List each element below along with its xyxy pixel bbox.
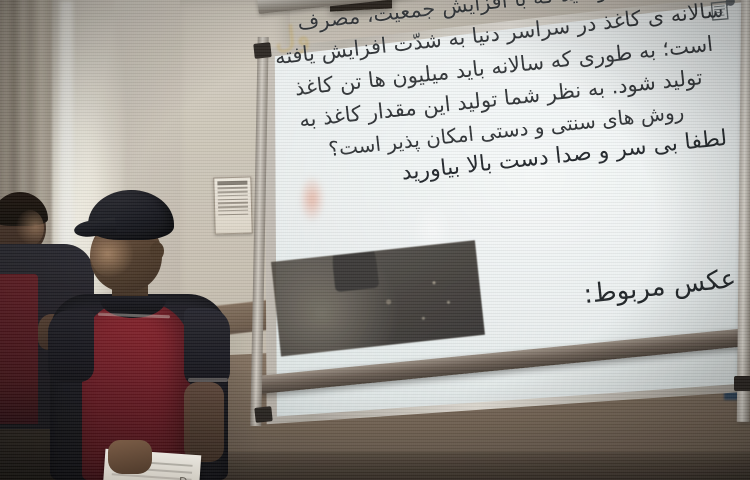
sleeve-right bbox=[184, 308, 230, 386]
whiteboard-corner-cap bbox=[255, 406, 273, 423]
whiteboard-corner-cap bbox=[734, 376, 750, 391]
classroom-photo: ول ر درسِ قبل آموختید که با افزایش جمعیت… bbox=[0, 0, 750, 480]
slide-logo-icon bbox=[710, 0, 738, 22]
ear bbox=[150, 242, 164, 260]
sleeve-left bbox=[48, 310, 94, 382]
paper-mark: D bbox=[178, 475, 187, 480]
student-foreground: D bbox=[38, 190, 238, 480]
hand bbox=[108, 440, 152, 474]
arm bbox=[184, 382, 224, 462]
whiteboard-corner-cap bbox=[253, 42, 271, 59]
shirt bbox=[0, 274, 38, 424]
whiteboard: ول ر درسِ قبل آموختید که با افزایش جمعیت… bbox=[238, 0, 750, 426]
